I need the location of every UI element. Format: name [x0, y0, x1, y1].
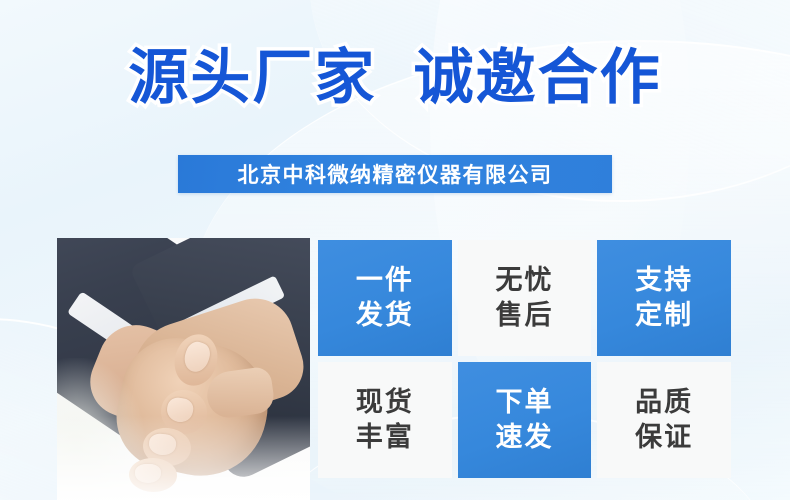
feature-cell-xiadan-sufa[interactable]: 下单 速发	[458, 362, 592, 478]
feature-label-line1: 一件	[356, 263, 414, 298]
feature-label-line2: 发货	[356, 298, 414, 333]
feature-label-line2: 售后	[495, 298, 553, 333]
feature-label-line1: 现货	[356, 385, 414, 420]
feature-cell-pinzhi-baozheng[interactable]: 品质 保证	[597, 362, 731, 478]
feature-cell-zhichi-dingzhi[interactable]: 支持 定制	[597, 240, 731, 356]
company-name-bar: 北京中科微纳精密仪器有限公司	[178, 155, 612, 193]
company-name-text: 北京中科微纳精密仪器有限公司	[238, 159, 553, 189]
feature-label-line2: 丰富	[356, 420, 414, 455]
feature-label-line1: 品质	[635, 385, 693, 420]
handshake-illustration	[57, 238, 310, 500]
feature-label-line1: 支持	[635, 263, 693, 298]
promo-banner: 源头厂家 诚邀合作 北京中科微纳精密仪器有限公司	[0, 0, 790, 500]
headline-text: 源头厂家 诚邀合作	[0, 42, 790, 114]
feature-label-line2: 速发	[495, 420, 553, 455]
feature-label-line1: 下单	[495, 385, 553, 420]
feature-cell-wuyou-shouhou[interactable]: 无忧 售后	[458, 240, 592, 356]
feature-cell-xianhuo-fengfu[interactable]: 现货 丰富	[318, 362, 452, 478]
handshake-photo	[57, 238, 310, 500]
photo-bottom-fade	[57, 416, 310, 500]
feature-cell-yijian-fahuo[interactable]: 一件 发货	[318, 240, 452, 356]
feature-label-line2: 定制	[635, 298, 693, 333]
feature-label-line2: 保证	[635, 420, 693, 455]
feature-label-line1: 无忧	[495, 263, 553, 298]
feature-grid: 一件 发货 无忧 售后 支持 定制 现货 丰富 下单 速发 品质 保证	[318, 240, 731, 478]
